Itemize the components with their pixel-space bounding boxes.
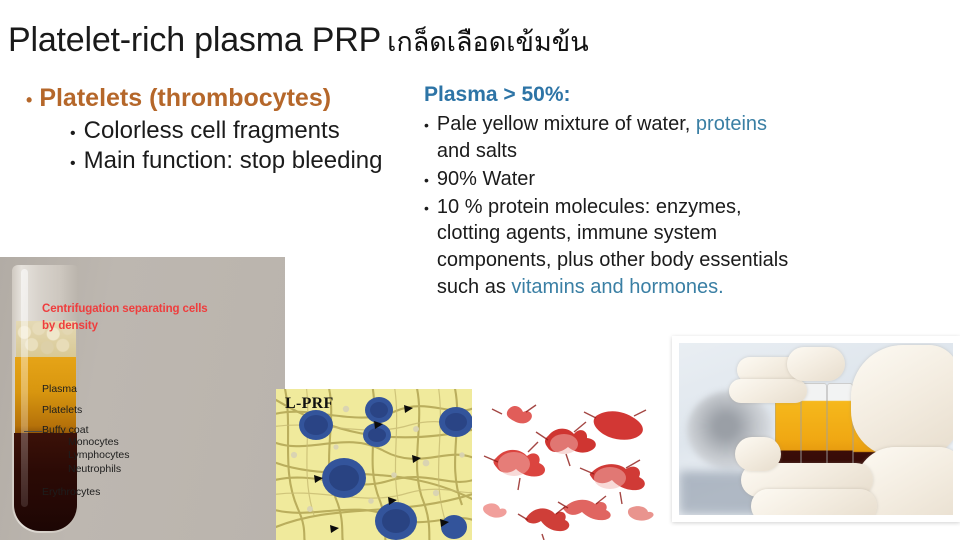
- gloved-thumb: [735, 437, 781, 471]
- bullet-icon: •: [424, 173, 429, 187]
- platelet-cells-illustration: [478, 388, 660, 540]
- bullet-icon: •: [26, 91, 32, 109]
- centrifuge-caption: Centrifugation separating cells by densi…: [42, 301, 214, 334]
- accent-text-run: vitamins and hormones.: [511, 276, 723, 298]
- list-item-label: 90% Water: [437, 166, 796, 193]
- gloved-finger: [751, 489, 877, 515]
- gloved-thumb: [787, 347, 845, 381]
- page-title: Platelet-rich plasma PRP เกล็ดเลือดเข้มข…: [8, 20, 688, 72]
- list-item-label: Colorless cell fragments: [84, 116, 340, 146]
- l-prf-fibrin-micrograph: L-PRF: [276, 389, 472, 540]
- left-heading-label: Platelets (thrombocytes): [39, 84, 331, 112]
- layer-label: Buffy coat: [42, 425, 222, 436]
- right-text-column: Plasma > 50%: • Pale yellow mixture of w…: [424, 82, 796, 302]
- left-text-column: • Platelets (thrombocytes) • Colorless c…: [26, 84, 426, 176]
- layer-label: Platelets: [42, 405, 222, 416]
- centrifugation-tube-diagram: Centrifugation separating cells by densi…: [0, 257, 285, 540]
- bullet-icon: •: [424, 201, 429, 215]
- accent-text-run: proteins: [696, 113, 767, 135]
- layer-label: Plasma: [42, 384, 222, 395]
- centrifuge-layer-label-list: Plasma Platelets Buffy coat Monocytes Ly…: [42, 384, 222, 497]
- list-item: • Colorless cell fragments: [70, 116, 426, 146]
- layer-sublabel: Neutrophils: [42, 463, 222, 476]
- right-heading-label: Plasma > 50%:: [424, 82, 796, 107]
- photo-content: [679, 343, 953, 515]
- text-run: and salts: [437, 140, 517, 162]
- list-item: • Main function: stop bleeding: [70, 146, 426, 176]
- slide-canvas: Platelet-rich plasma PRP เกล็ดเลือดเข้มข…: [0, 0, 960, 540]
- list-item-label: Main function: stop bleeding: [84, 146, 383, 176]
- gloved-finger: [729, 379, 807, 403]
- layer-sublabel: Lymphocytes: [42, 449, 222, 462]
- list-item-label: Pale yellow mixture of water, proteins a…: [437, 111, 796, 165]
- list-item-label: 10 % protein molecules: enzymes, clottin…: [437, 194, 796, 301]
- layer-sublabel: Monocytes: [42, 436, 222, 449]
- activated-platelets-micrograph: [478, 388, 660, 540]
- text-run: 90% Water: [437, 168, 535, 190]
- bullet-icon: •: [70, 156, 76, 172]
- layer-label: Erythrocytes: [42, 487, 222, 498]
- lprf-image-label: L-PRF: [285, 395, 334, 413]
- bullet-icon: •: [424, 118, 429, 132]
- left-heading: • Platelets (thrombocytes): [26, 84, 426, 112]
- buffy-coat-pointer-line: [24, 431, 42, 432]
- gloved-hands-holding-prp-tubes: [672, 336, 960, 522]
- text-run: Pale yellow mixture of water,: [437, 113, 696, 135]
- list-item: • 10 % protein molecules: enzymes, clott…: [424, 194, 796, 301]
- page-title-thai: เกล็ดเลือดเข้มข้น: [387, 20, 589, 63]
- left-sub-bullet-list: • Colorless cell fragments • Main functi…: [26, 116, 426, 176]
- bullet-icon: •: [70, 126, 76, 142]
- gloved-hand-upper: [851, 345, 953, 457]
- tube-glass-highlight: [21, 269, 28, 507]
- list-item: • Pale yellow mixture of water, proteins…: [424, 111, 796, 165]
- list-item: • 90% Water: [424, 166, 796, 193]
- page-title-english: Platelet-rich plasma PRP: [8, 21, 381, 60]
